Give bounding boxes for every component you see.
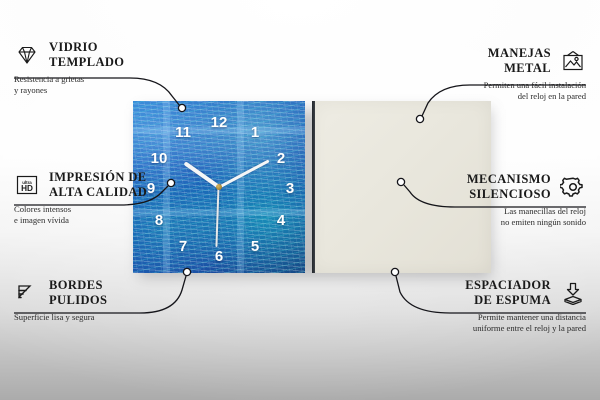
infographic-canvas: 12 1 2 3 4 5 6 7 8 9 10 11 [0,0,600,400]
feature-description: Permiten una fácil instalación del reloj… [406,80,586,103]
clock-number-5: 5 [245,239,265,254]
clock-number-6: 6 [209,249,229,264]
feature-title: VIDRIO TEMPLADO [49,40,124,70]
clock-number-4: 4 [271,213,291,228]
clock-number-7: 7 [173,239,193,254]
ultra-hd-badge-icon: ultra HD [14,173,40,197]
clock-number-2: 2 [271,151,291,166]
gear-icon [560,175,586,199]
picture-frame-icon [560,49,586,73]
feature-espaciador-de-espuma: ESPACIADOR DE ESPUMA Permite mantener un… [396,278,586,335]
feature-header: VIDRIO TEMPLADO [14,40,184,70]
clock-number-3: 3 [280,181,300,196]
feature-title: BORDES PULIDOS [49,278,107,308]
feature-header: ESPACIADOR DE ESPUMA [396,278,586,308]
polished-edges-icon [14,281,40,305]
feature-manejas-metal: MANEJAS METAL Permiten una fácil instala… [406,46,586,103]
clock-side-edge [312,101,315,273]
diamond-icon [14,43,40,67]
feature-impresion-alta-calidad: ultra HD IMPRESIÓN DE ALTA CALIDAD Color… [14,170,194,227]
clock-number-1: 1 [245,125,265,140]
feature-header: MANEJAS METAL [406,46,586,76]
feature-title: IMPRESIÓN DE ALTA CALIDAD [49,170,147,200]
feature-description: Permite mantener una distancia uniforme … [396,312,586,335]
feature-description: Resistencia a grietas y rayones [14,74,184,97]
feature-header: ultra HD IMPRESIÓN DE ALTA CALIDAD [14,170,194,200]
feature-mecanismo-silencioso: MECANISMO SILENCIOSO Las manecillas del … [406,172,586,229]
clock-number-12: 12 [209,115,229,130]
svg-text:HD: HD [21,184,33,193]
feature-description: Colores intensos e imagen vívida [14,204,194,227]
feature-header: BORDES PULIDOS [14,278,194,308]
feature-header: MECANISMO SILENCIOSO [406,172,586,202]
feature-title: MANEJAS METAL [488,46,551,76]
clock-number-10: 10 [149,151,169,166]
clock-center-hub [216,184,222,190]
foam-spacer-arrow-icon [560,281,586,305]
feature-title: ESPACIADOR DE ESPUMA [465,278,551,308]
feature-vidrio-templado: VIDRIO TEMPLADO Resistencia a grietas y … [14,40,184,97]
feature-bordes-pulidos: BORDES PULIDOS Superficie lisa y segura [14,278,194,323]
feature-title: MECANISMO SILENCIOSO [467,172,551,202]
feature-description: Superficie lisa y segura [14,312,194,324]
feature-description: Las manecillas del reloj no emiten ningú… [406,206,586,229]
clock-number-11: 11 [173,125,193,140]
